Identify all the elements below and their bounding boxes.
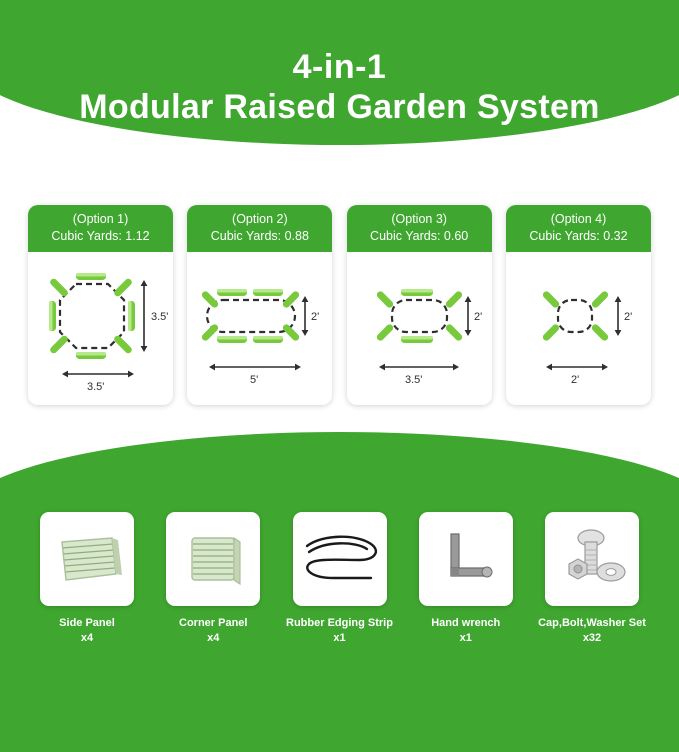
option-3-header: (Option 3) Cubic Yards: 0.60 — [347, 205, 492, 252]
hand-wrench-label: Hand wrench — [431, 616, 500, 631]
option-1-name: (Option 1) — [30, 211, 171, 228]
option-card-3[interactable]: (Option 3) Cubic Yards: 0.60 — [347, 205, 492, 405]
part-side-panel[interactable]: Side Panel x4 — [28, 512, 146, 646]
part-cap-bolt-washer-set[interactable]: Cap,Bolt,Washer Set x32 — [533, 512, 651, 646]
option-4-cubic-yards: Cubic Yards: 0.32 — [508, 228, 649, 245]
rubber-edging-strip-icon — [293, 512, 387, 606]
option-2-diagram-area: 2' 5' — [187, 252, 332, 397]
rubber-edging-strip-thumb — [293, 512, 387, 606]
option-1-cubic-yards: Cubic Yards: 1.12 — [30, 228, 171, 245]
option-3-name: (Option 3) — [349, 211, 490, 228]
hand-wrench-qty: x1 — [460, 631, 472, 646]
option-2-layout-diagram: 2' 5' — [187, 252, 332, 397]
options-row: (Option 1) Cubic Yards: 1.12 — [28, 205, 651, 405]
option-4-header: (Option 4) Cubic Yards: 0.32 — [506, 205, 651, 252]
option-card-4[interactable]: (Option 4) Cubic Yards: 0.32 — [506, 205, 651, 405]
parts-list: Side Panel x4 Corn — [28, 512, 651, 646]
option-4-layout-diagram: 2' 2' — [506, 252, 651, 397]
corner-panel-icon — [166, 512, 260, 606]
option-2-header: (Option 2) Cubic Yards: 0.88 — [187, 205, 332, 252]
option-1-width-label: 3.5' — [87, 381, 104, 393]
header-banner: 4-in-1 Modular Raised Garden System — [0, 0, 679, 145]
part-corner-panel[interactable]: Corner Panel x4 — [154, 512, 272, 646]
cap-bolt-washer-icon — [545, 512, 639, 606]
option-4-name: (Option 4) — [508, 211, 649, 228]
option-4-diagram-area: 2' 2' — [506, 252, 651, 397]
option-2-width-label: 5' — [250, 374, 258, 386]
option-1-header: (Option 1) Cubic Yards: 1.12 — [28, 205, 173, 252]
rubber-edging-strip-qty: x1 — [333, 631, 345, 646]
side-panel-thumb — [40, 512, 134, 606]
option-2-height-label: 2' — [311, 311, 319, 323]
part-hand-wrench[interactable]: Hand wrench x1 — [407, 512, 525, 646]
side-panel-qty: x4 — [81, 631, 93, 646]
option-3-diagram-area: 2' 3.5' — [347, 252, 492, 397]
corner-panel-qty: x4 — [207, 631, 219, 646]
option-2-cubic-yards: Cubic Yards: 0.88 — [189, 228, 330, 245]
option-1-layout-diagram: 3.5' 3.5' — [28, 252, 173, 397]
option-4-height-label: 2' — [624, 311, 632, 323]
option-card-2[interactable]: (Option 2) Cubic Yards: 0.88 — [187, 205, 332, 405]
option-1-height-label: 3.5' — [151, 311, 168, 323]
option-3-layout-diagram: 2' 3.5' — [347, 252, 492, 397]
cap-bolt-washer-thumb — [545, 512, 639, 606]
option-4-width-label: 2' — [571, 374, 579, 386]
part-rubber-edging-strip[interactable]: Rubber Edging Strip x1 — [281, 512, 399, 646]
side-panel-label: Side Panel — [59, 616, 115, 631]
option-3-width-label: 3.5' — [405, 374, 422, 386]
cap-bolt-washer-label: Cap,Bolt,Washer Set — [538, 616, 646, 631]
option-3-cubic-yards: Cubic Yards: 0.60 — [349, 228, 490, 245]
option-3-height-label: 2' — [474, 311, 482, 323]
corner-panel-label: Corner Panel — [179, 616, 247, 631]
option-2-name: (Option 2) — [189, 211, 330, 228]
hand-wrench-thumb — [419, 512, 513, 606]
page-title-line1: 4-in-1 — [79, 47, 599, 87]
header-text: 4-in-1 Modular Raised Garden System — [79, 47, 599, 127]
hand-wrench-icon — [419, 512, 513, 606]
rubber-edging-strip-label: Rubber Edging Strip — [286, 616, 393, 631]
side-panel-icon — [40, 512, 134, 606]
option-1-diagram-area: 3.5' 3.5' — [28, 252, 173, 397]
option-card-1[interactable]: (Option 1) Cubic Yards: 1.12 — [28, 205, 173, 405]
page-title-line2: Modular Raised Garden System — [79, 87, 599, 127]
corner-panel-thumb — [166, 512, 260, 606]
cap-bolt-washer-qty: x32 — [583, 631, 601, 646]
